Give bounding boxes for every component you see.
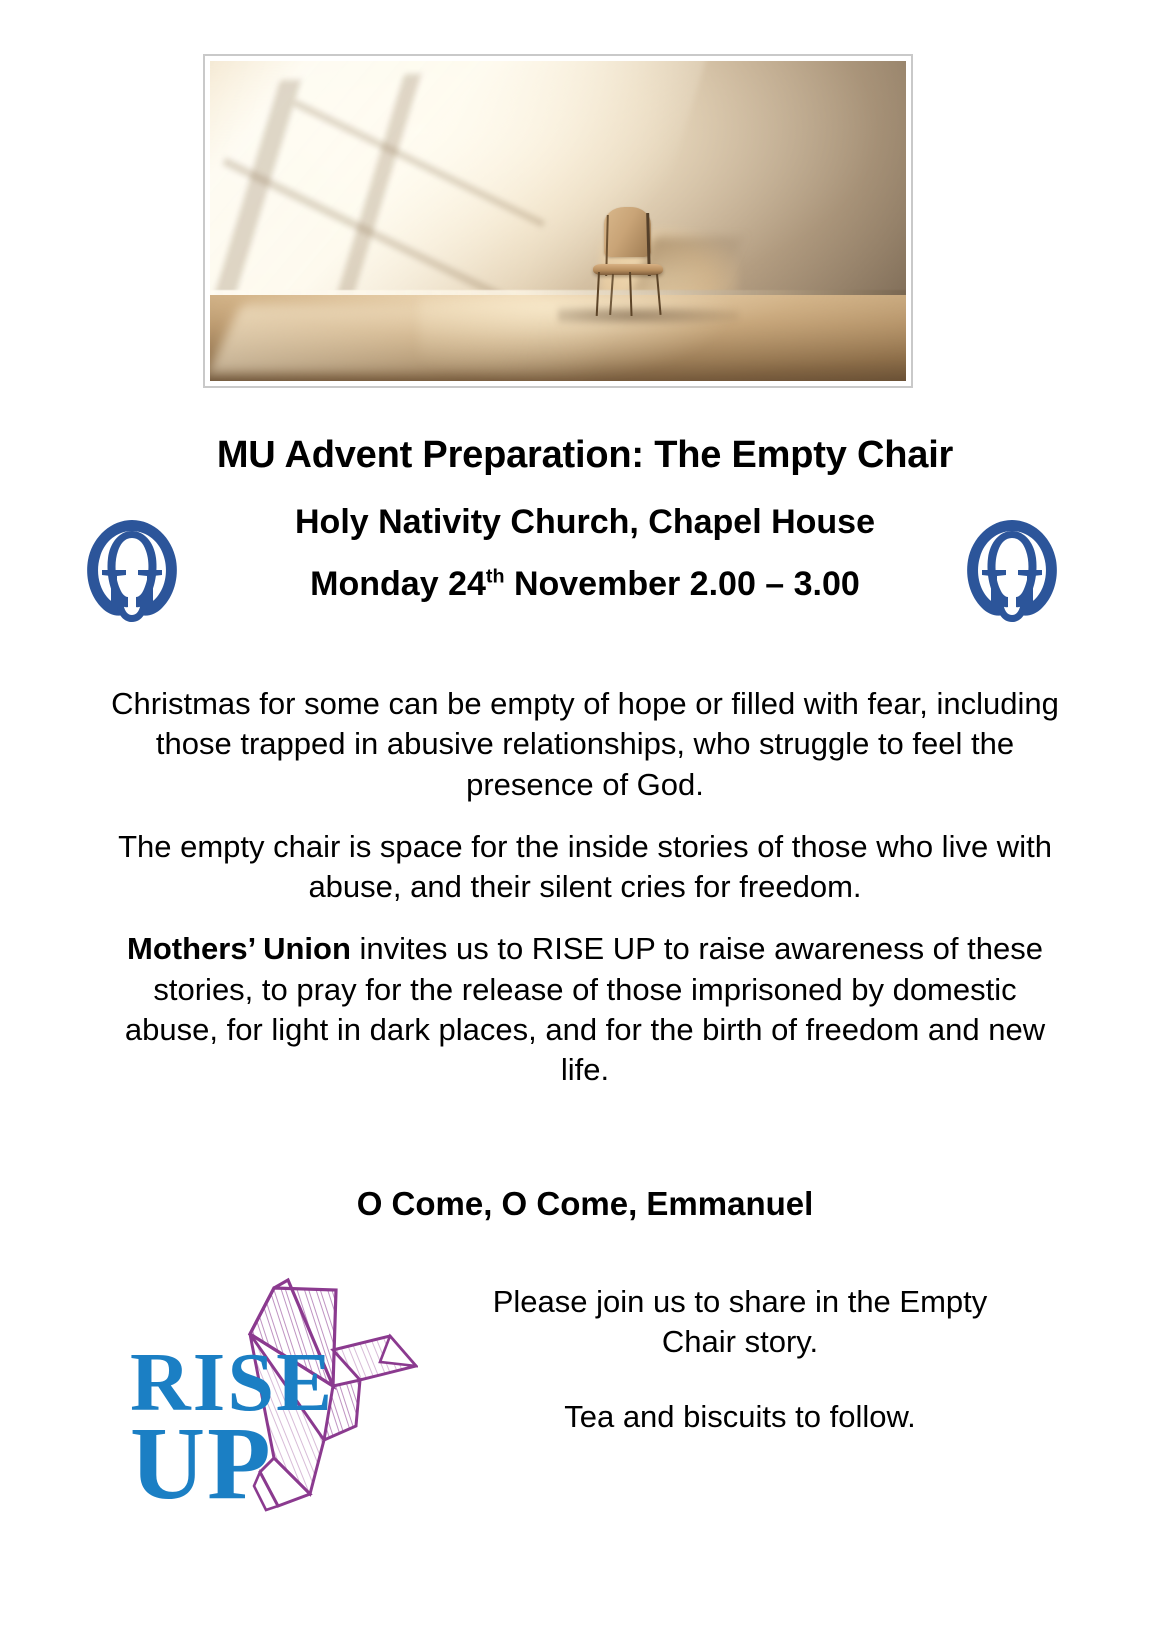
poster-title: MU Advent Preparation: The Empty Chair [0,434,1170,477]
rise-up-logo: RISE UP [128,1258,418,1516]
mothers-union-logo-left-icon [76,512,188,632]
hymn-line: O Come, O Come, Emmanuel [0,1185,1170,1223]
date-prefix: Monday 24 [310,565,486,603]
event-details: Holy Nativity Church, Chapel House Monda… [185,505,985,601]
body-copy: Christmas for some can be empty of hope … [108,684,1062,1091]
empty-chair [586,207,670,316]
chair-leg [656,274,662,315]
paragraph-3: Mothers’ Union invites us to RISE UP to … [108,929,1062,1090]
chair-leg [629,272,633,316]
date-time-line: Monday 24th November 2.00 – 3.00 [185,567,985,601]
hero-image-frame [203,54,913,388]
chair-seat [593,264,663,275]
chair-leg [609,274,614,315]
date-ordinal-suffix: th [486,566,505,588]
closing-line-1: Please join us to share in the Empty Cha… [460,1282,1020,1363]
paragraph-2-text: The empty chair is space for the inside … [118,829,1052,904]
mothers-union-emphasis: Mothers’ Union [127,931,351,966]
paragraph-1-text: Christmas for some can be empty of hope … [111,686,1059,802]
paragraph-1: Christmas for some can be empty of hope … [108,684,1062,805]
chair-backrest [604,207,651,257]
venue-line: Holy Nativity Church, Chapel House [185,505,985,539]
paragraph-2: The empty chair is space for the inside … [108,827,1062,908]
rise-up-word-up: UP [130,1406,273,1516]
closing-text: Please join us to share in the Empty Cha… [460,1282,1020,1437]
date-suffix: November 2.00 – 3.00 [505,565,860,603]
poster-page: MU Advent Preparation: The Empty Chair [0,0,1170,1637]
closing-line-2: Tea and biscuits to follow. [460,1397,1020,1437]
empty-chair-photo [210,61,906,381]
chair-leg [595,272,599,316]
